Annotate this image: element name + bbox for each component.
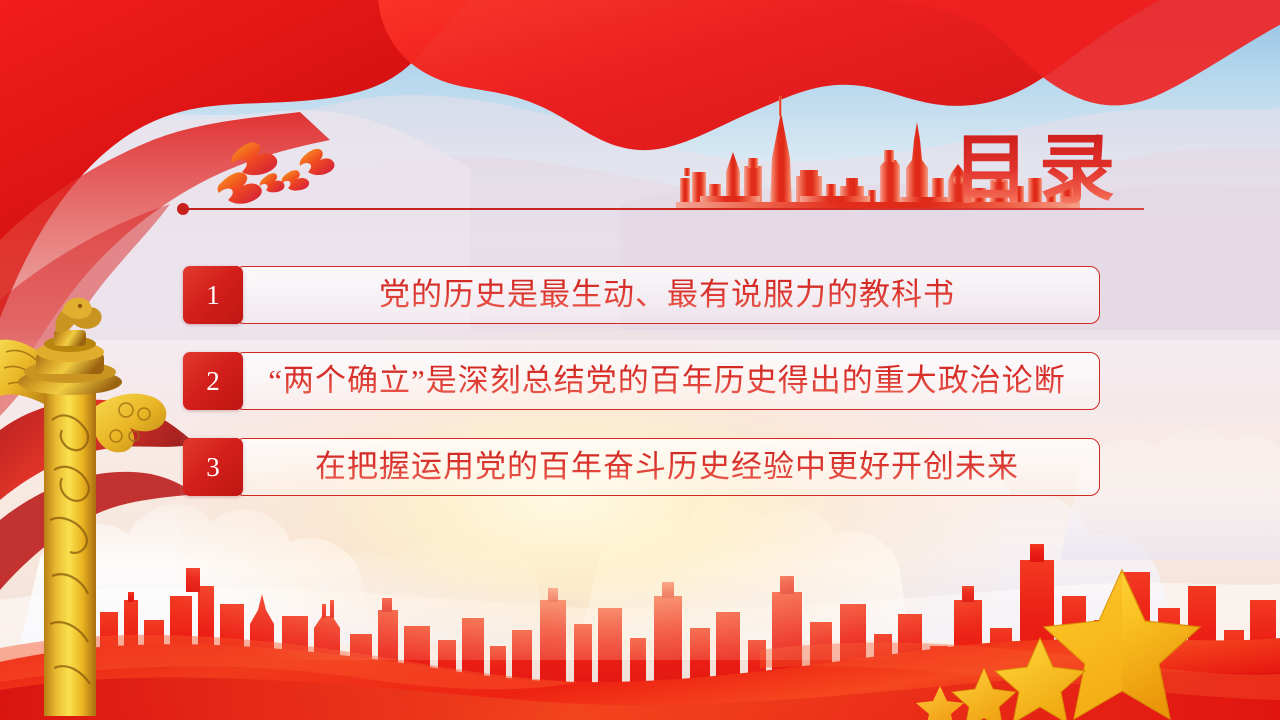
toc-item-3[interactable]: 3 在把握运用党的百年奋斗历史经验中更好开创未来 [183, 438, 1100, 496]
table-of-contents: 1 党的历史是最生动、最有说服力的教科书 2 “两个确立”是深刻总结党的百年历史… [183, 266, 1100, 524]
page-title: 目录 [953, 133, 1125, 209]
toc-item-1-label: 党的历史是最生动、最有说服力的教科书 [234, 266, 1100, 324]
presentation-slide: 目录 1 党的历史是最生动、最有说服力的教科书 2 “两个确立”是深刻总结党的百… [0, 0, 1280, 720]
toc-item-1[interactable]: 1 党的历史是最生动、最有说服力的教科书 [183, 266, 1100, 324]
toc-item-2-label: “两个确立”是深刻总结党的百年历史得出的重大政治论断 [234, 352, 1100, 410]
toc-item-2-number: 2 [183, 352, 243, 410]
toc-item-3-number: 3 [183, 438, 243, 496]
toc-item-3-label: 在把握运用党的百年奋斗历史经验中更好开创未来 [234, 438, 1100, 496]
toc-item-2[interactable]: 2 “两个确立”是深刻总结党的百年历史得出的重大政治论断 [183, 352, 1100, 410]
toc-item-1-number: 1 [183, 266, 243, 324]
